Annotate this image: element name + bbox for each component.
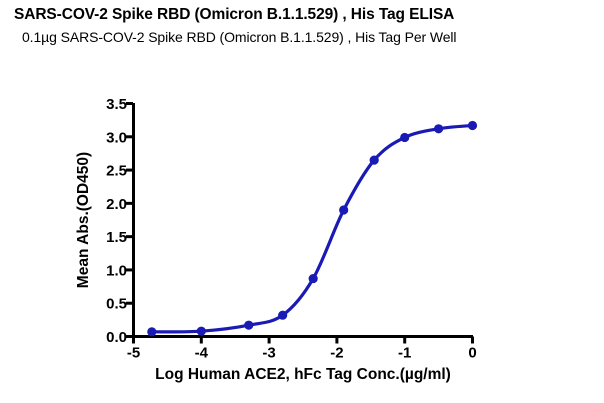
x-tick-label: -2 <box>330 345 343 362</box>
data-point-marker <box>197 327 206 336</box>
axis-tick-marks <box>126 104 473 344</box>
data-point-marker <box>468 121 477 130</box>
plot-area: 0.00.51.01.52.02.53.03.5 -5-4-3-2-10 Mea… <box>0 0 604 403</box>
x-tick-label: -3 <box>262 345 275 362</box>
y-tick-label: 2.5 <box>106 163 127 180</box>
data-point-marker <box>339 205 348 214</box>
data-point-marker <box>434 124 443 133</box>
y-tick-label: 0.0 <box>106 329 127 346</box>
y-tick-label: 0.5 <box>106 296 127 313</box>
data-point-marker <box>370 155 379 164</box>
data-series-line <box>152 125 473 331</box>
elisa-chart: SARS-COV-2 Spike RBD (Omicron B.1.1.529)… <box>0 0 604 403</box>
data-point-marker <box>278 311 287 320</box>
y-tick-label: 3.0 <box>106 129 127 146</box>
x-tick-label: -4 <box>195 345 209 362</box>
y-tick-label: 3.5 <box>106 96 127 113</box>
y-tick-label: 1.0 <box>106 262 127 279</box>
x-axis-title: Log Human ACE2, hFc Tag Conc.(µg/ml) <box>155 366 451 383</box>
data-point-marker <box>244 321 253 330</box>
data-series-markers <box>147 121 477 337</box>
y-axis-title: Mean Abs.(OD450) <box>75 152 92 288</box>
data-point-marker <box>309 274 318 283</box>
y-tick-label: 1.5 <box>106 229 127 246</box>
x-tick-label: -5 <box>127 345 140 362</box>
x-axis-tick-labels: -5-4-3-2-10 <box>127 345 477 362</box>
x-tick-label: 0 <box>468 345 476 362</box>
x-tick-label: -1 <box>398 345 411 362</box>
y-axis-tick-labels: 0.00.51.01.52.02.53.03.5 <box>106 96 127 346</box>
data-point-marker <box>147 327 156 336</box>
data-point-marker <box>400 133 409 142</box>
y-tick-label: 2.0 <box>106 196 127 213</box>
